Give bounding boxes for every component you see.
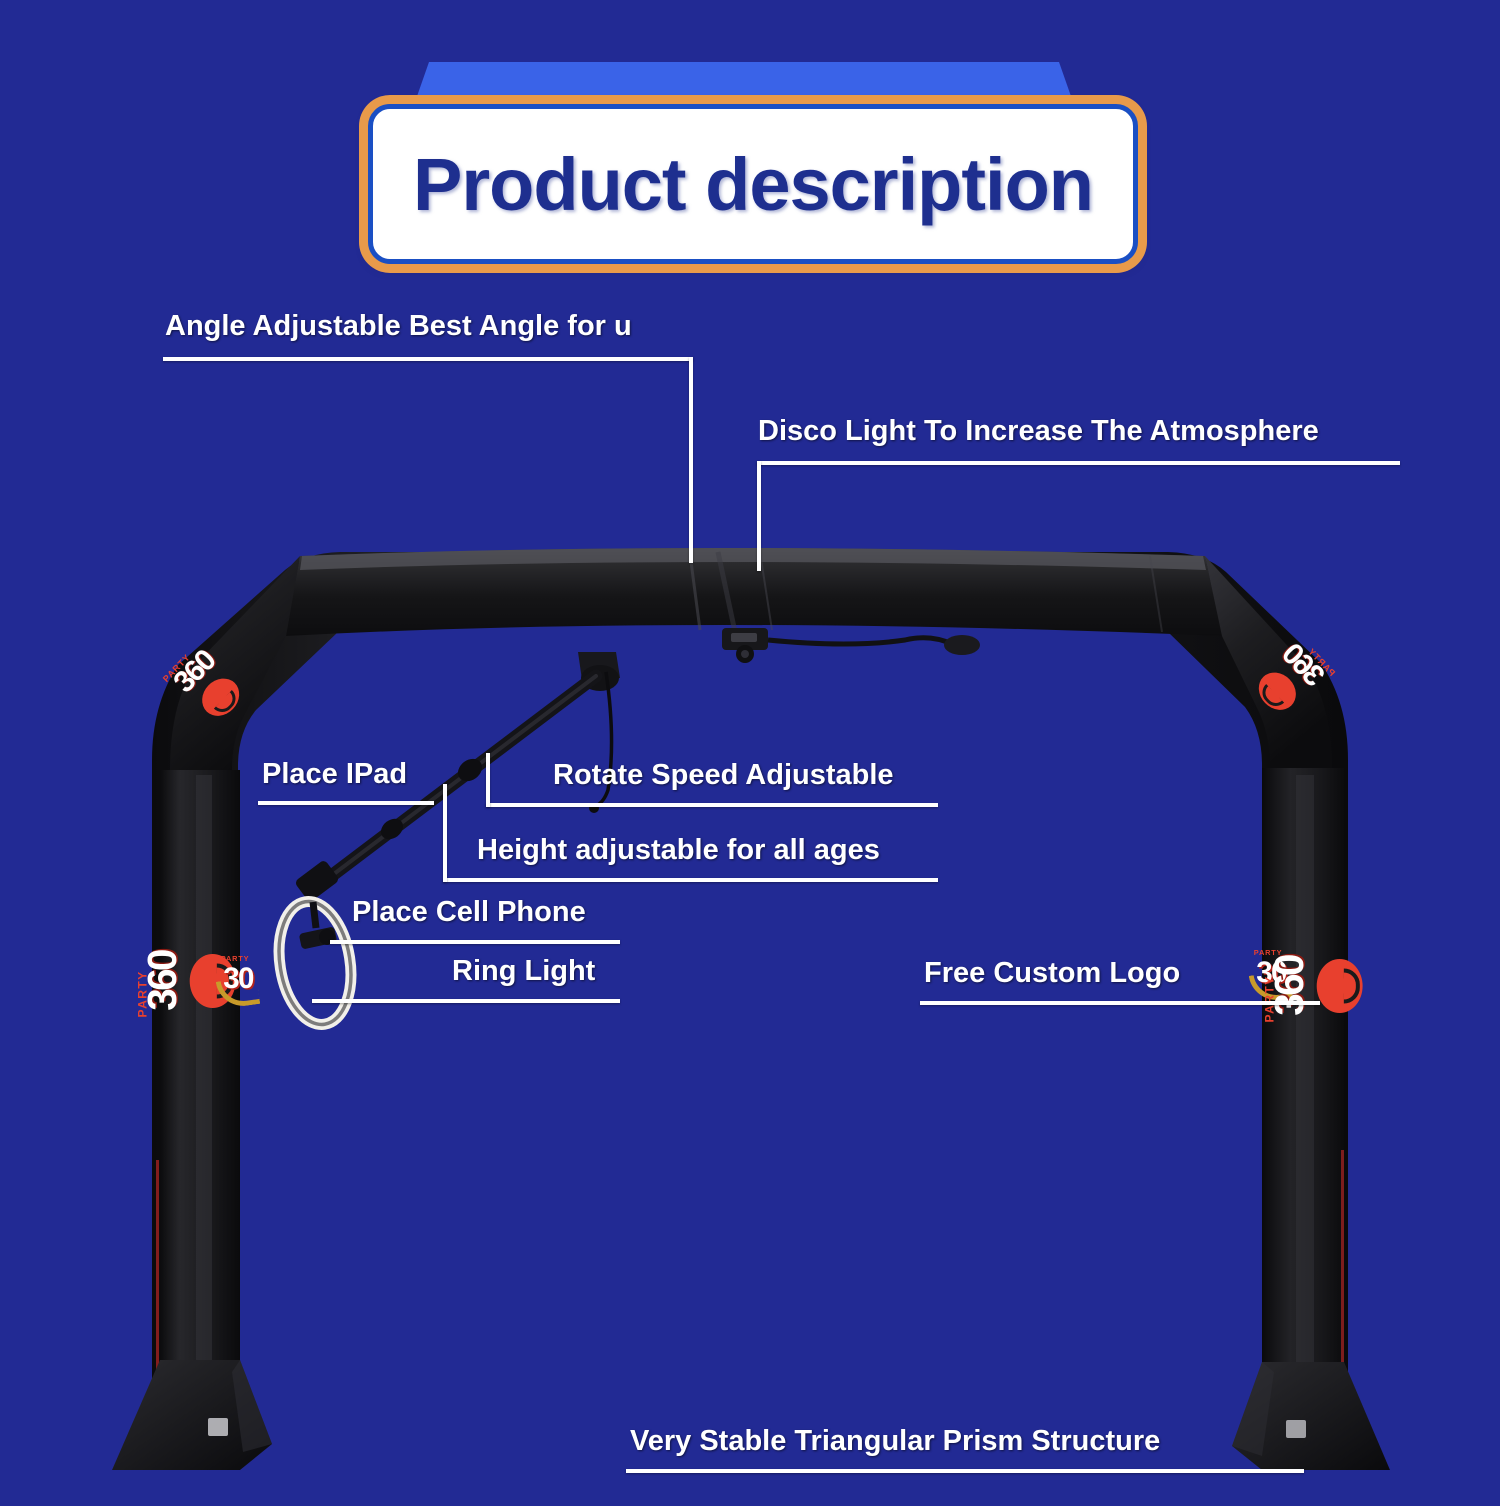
top-beam-highlight	[300, 548, 1206, 570]
callout-angle-adjustable-label: Angle Adjustable Best Angle for u	[165, 312, 632, 341]
logo-party-text: PARTY	[1263, 975, 1277, 1022]
logo-swoosh-shape	[216, 976, 260, 1009]
logo-30-left-leg: PARTY 30	[211, 954, 265, 1011]
right-leg-highlight	[1296, 775, 1314, 1420]
left-leg	[160, 770, 240, 1424]
left-base-top-facet	[232, 1360, 272, 1452]
left-base	[112, 1360, 272, 1470]
top-beam	[286, 548, 1222, 636]
logo-30-text: 30	[211, 961, 265, 995]
right-leg	[1262, 768, 1344, 1426]
callout-free-custom-logo-underline	[920, 1001, 1320, 1005]
callout-angle-adjustable-leader	[689, 357, 693, 563]
logo-360-text: 360	[1271, 634, 1336, 699]
top-beam-crease-2	[718, 552, 735, 632]
arch-body	[112, 548, 1390, 1470]
top-beam-crease-1	[690, 554, 700, 630]
logo-ball-shape	[190, 954, 236, 1008]
callout-height-adjustable-label: Height adjustable for all ages	[477, 836, 880, 865]
left-leg-highlight	[196, 775, 212, 1420]
callout-disco-light-label: Disco Light To Increase The Atmosphere	[758, 417, 1319, 446]
right-base	[1232, 1362, 1390, 1470]
logo-swoosh-shape	[1249, 970, 1293, 1003]
logo-ball-shape	[195, 671, 247, 723]
right-leg-seam	[1341, 1150, 1344, 1426]
callout-height-adjustable-underline	[443, 878, 938, 882]
top-beam-crease-4	[1150, 556, 1162, 632]
callout-disco-light-leader	[757, 461, 761, 571]
callout-place-ipad-underline	[258, 801, 434, 805]
logo-ball-shape	[1251, 665, 1303, 717]
logo-360-text: 360	[141, 942, 187, 1020]
callout-prism-structure-underline	[626, 1469, 1304, 1473]
camera-module	[722, 628, 980, 663]
callout-place-cell-phone-underline	[330, 940, 620, 944]
callout-place-ipad-label: Place IPad	[262, 760, 407, 789]
logo-party-text: PARTY	[1306, 646, 1337, 678]
callout-rotate-speed-underline	[486, 803, 938, 807]
right-base-foot-tab	[1286, 1420, 1306, 1438]
callout-place-cell-phone-label: Place Cell Phone	[352, 898, 586, 927]
page-title: Product description	[413, 142, 1093, 227]
logo-360-text: 360	[1268, 947, 1314, 1025]
logo-party-text: PARTY	[136, 970, 150, 1017]
callout-ring-light-label: Ring Light	[452, 957, 595, 986]
callout-height-adjustable-leader	[443, 784, 447, 882]
callout-disco-light-underline	[757, 461, 1400, 465]
top-beam-crease-3	[760, 552, 772, 630]
left-base-foot-tab	[208, 1418, 228, 1436]
logo-360-left-leg: PARTY 360	[138, 942, 235, 1020]
callout-rotate-speed-leader	[486, 753, 490, 807]
callout-ring-light-underline	[312, 999, 620, 1003]
callout-free-custom-logo-label: Free Custom Logo	[924, 959, 1180, 988]
title-banner: Product description	[368, 104, 1138, 264]
logo-360-right-leg: PARTY 360	[1265, 947, 1362, 1025]
left-leg-seam	[156, 1160, 159, 1426]
logo-ball-shape	[1317, 959, 1363, 1013]
logo-party-text: PARTY	[161, 652, 192, 684]
logo-party-text: PARTY	[221, 954, 250, 962]
ring-light	[271, 896, 360, 1029]
logo-30-right-leg: PARTY 30	[1244, 948, 1298, 1005]
callout-prism-structure-label: Very Stable Triangular Prism Structure	[630, 1427, 1160, 1456]
left-shoulder	[170, 556, 300, 770]
right-base-top-facet	[1232, 1362, 1274, 1456]
logo-360-text: 360	[162, 640, 227, 705]
logo-30-text: 30	[1244, 955, 1298, 989]
logo-360-right-shoulder: PARTY 360	[1245, 632, 1337, 724]
logo-party-text: PARTY	[1254, 948, 1283, 956]
infographic-canvas: Product description	[0, 0, 1500, 1506]
callout-rotate-speed-label: Rotate Speed Adjustable	[553, 761, 894, 790]
callout-angle-adjustable-underline	[163, 357, 693, 361]
right-shoulder	[1205, 556, 1332, 768]
logo-360-left-shoulder: PARTY 360	[161, 638, 253, 730]
arch-outer-shell	[152, 552, 1348, 1432]
